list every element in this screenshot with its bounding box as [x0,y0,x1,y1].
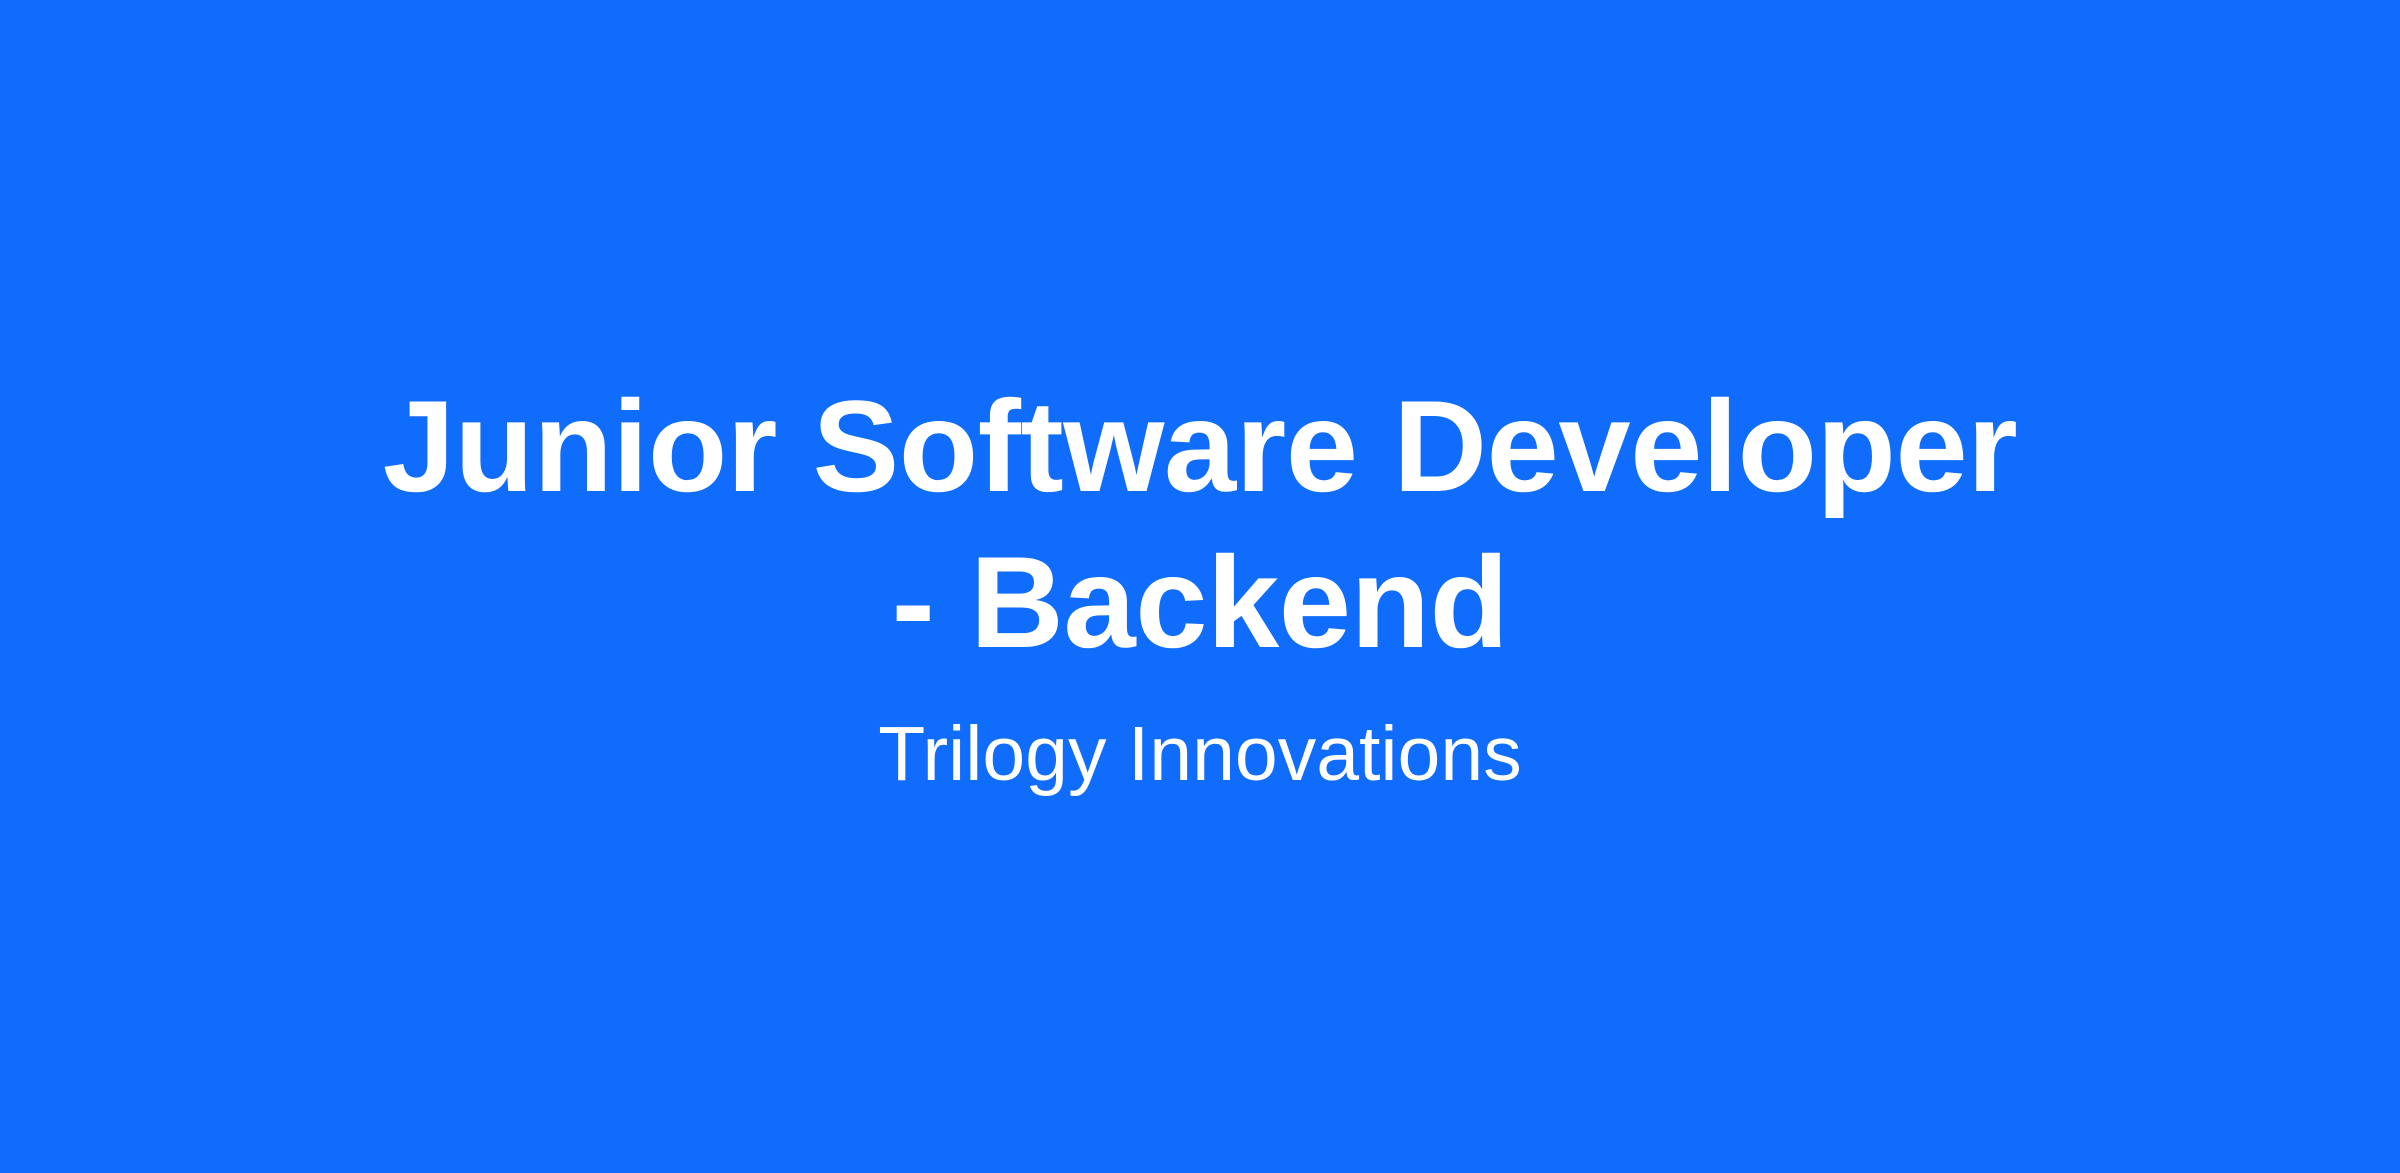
hero-content-block: Junior Software Developer - Backend Tril… [370,368,2030,800]
job-title: Junior Software Developer - Backend [380,368,2020,680]
company-name: Trilogy Innovations [878,680,1521,800]
job-posting-hero-banner: Junior Software Developer - Backend Tril… [0,0,2400,1173]
